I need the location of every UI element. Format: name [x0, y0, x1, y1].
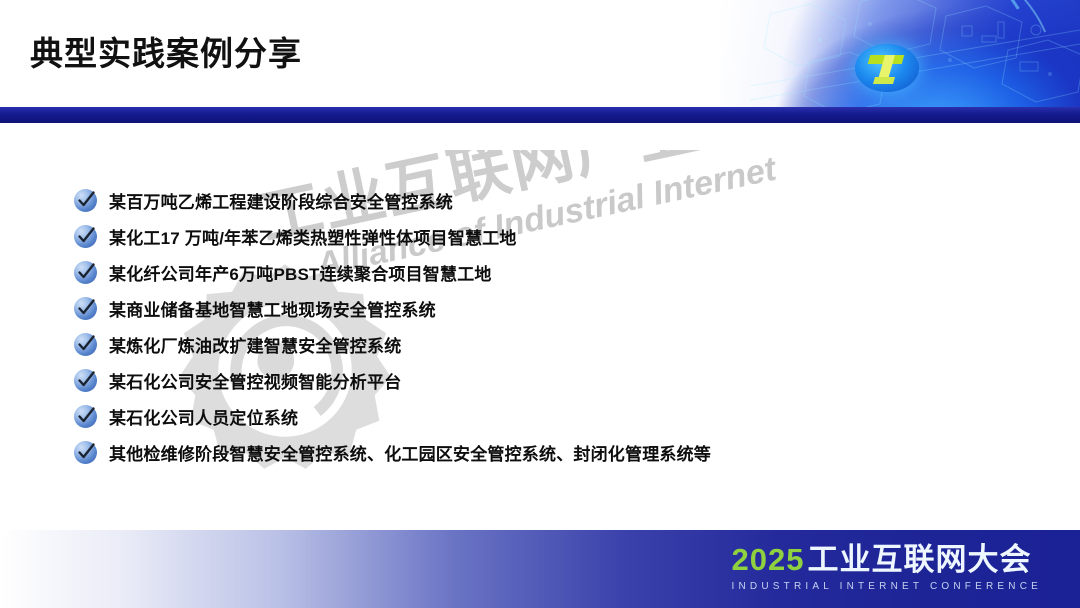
list-item-label: 其他检维修阶段智慧安全管控系统、化工园区安全管控系统、封闭化管理系统等: [109, 440, 711, 465]
check-circle-icon: [74, 333, 97, 356]
list-item-label: 某化纤公司年产6万吨PBST连续聚合项目智慧工地: [109, 260, 492, 285]
conference-year: 2025: [732, 544, 805, 575]
list-item[interactable]: 某化工17 万吨/年苯乙烯类热塑性弹性体项目智慧工地: [74, 218, 1024, 254]
slide-header: 典型实践案例分享: [0, 0, 1080, 107]
conference-name-en: INDUSTRIAL INTERNET CONFERENCE: [732, 582, 1042, 592]
list-item[interactable]: 某石化公司人员定位系统: [74, 398, 1024, 434]
conference-name-cn: 工业互联网大会: [808, 544, 1032, 575]
list-item[interactable]: 某百万吨乙烯工程建设阶段综合安全管控系统: [74, 182, 1024, 218]
check-circle-icon: [74, 441, 97, 464]
t-mark-logo: [855, 44, 919, 96]
header-arc-inner: [647, 0, 1030, 107]
case-list: 某百万吨乙烯工程建设阶段综合安全管控系统 某化工17 万吨/年苯乙烯类热塑性弹性…: [74, 182, 1024, 470]
check-circle-icon: [74, 369, 97, 392]
t-logo-foot: [873, 77, 895, 84]
page-title: 典型实践案例分享: [30, 37, 302, 70]
list-item-label: 某商业储备基地智慧工地现场安全管控系统: [109, 296, 436, 321]
check-circle-icon: [74, 297, 97, 320]
slide-footer: 2025 工业互联网大会 INDUSTRIAL INTERNET CONFERE…: [0, 530, 1080, 608]
list-item[interactable]: 其他检维修阶段智慧安全管控系统、化工园区安全管控系统、封闭化管理系统等: [74, 434, 1024, 470]
list-item-label: 某炼化厂炼油改扩建智慧安全管控系统: [109, 332, 401, 357]
list-item-label: 某石化公司安全管控视频智能分析平台: [109, 368, 401, 393]
conference-logo: 2025 工业互联网大会 INDUSTRIAL INTERNET CONFERE…: [732, 544, 1042, 592]
list-item[interactable]: 某商业储备基地智慧工地现场安全管控系统: [74, 290, 1024, 326]
check-circle-icon: [74, 189, 97, 212]
check-circle-icon: [74, 261, 97, 284]
list-item[interactable]: 某炼化厂炼油改扩建智慧安全管控系统: [74, 326, 1024, 362]
list-item[interactable]: 某化纤公司年产6万吨PBST连续聚合项目智慧工地: [74, 254, 1024, 290]
list-item[interactable]: 某石化公司安全管控视频智能分析平台: [74, 362, 1024, 398]
header-divider-bar: [0, 107, 1080, 123]
list-item-label: 某石化公司人员定位系统: [109, 404, 298, 429]
check-circle-icon: [74, 405, 97, 428]
check-circle-icon: [74, 225, 97, 248]
list-item-label: 某化工17 万吨/年苯乙烯类热塑性弹性体项目智慧工地: [109, 224, 517, 249]
slide-canvas: 典型实践案例分享 工业互联网产业联盟 Alliance of Industria…: [0, 0, 1080, 608]
list-item-label: 某百万吨乙烯工程建设阶段综合安全管控系统: [109, 188, 453, 213]
